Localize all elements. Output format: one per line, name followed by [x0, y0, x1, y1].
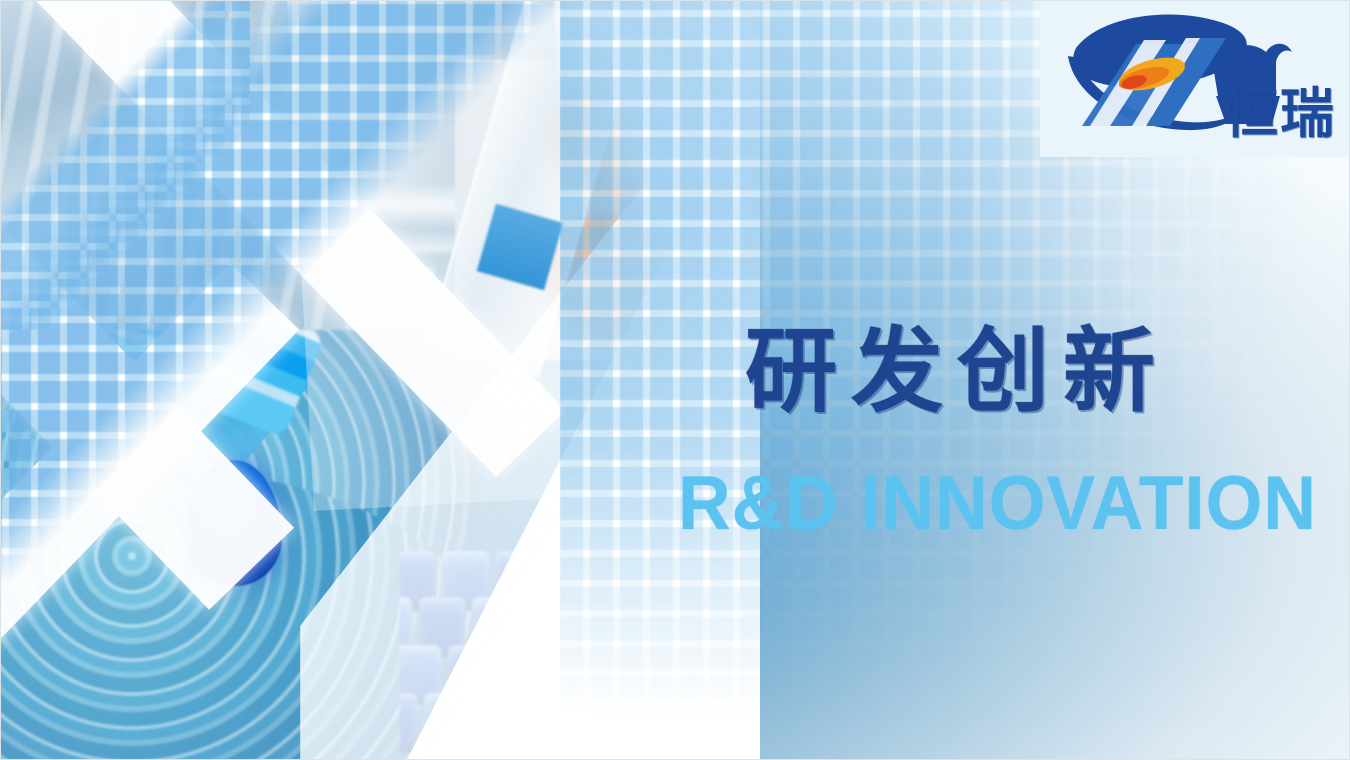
white-edge-fade	[555, 0, 760, 760]
photo-collage	[0, 0, 760, 760]
rd-innovation-banner: 研发创新 R&D INNOVATION	[0, 0, 1350, 760]
page-subtitle: R&D INNOVATION	[678, 466, 1317, 542]
hengrui-logo: 恒瑞	[1040, 0, 1350, 157]
logo-panel[interactable]: 恒瑞	[1040, 0, 1350, 157]
page-title: 研发创新	[745, 326, 1169, 418]
logo-company-name: 恒瑞	[1224, 87, 1336, 141]
